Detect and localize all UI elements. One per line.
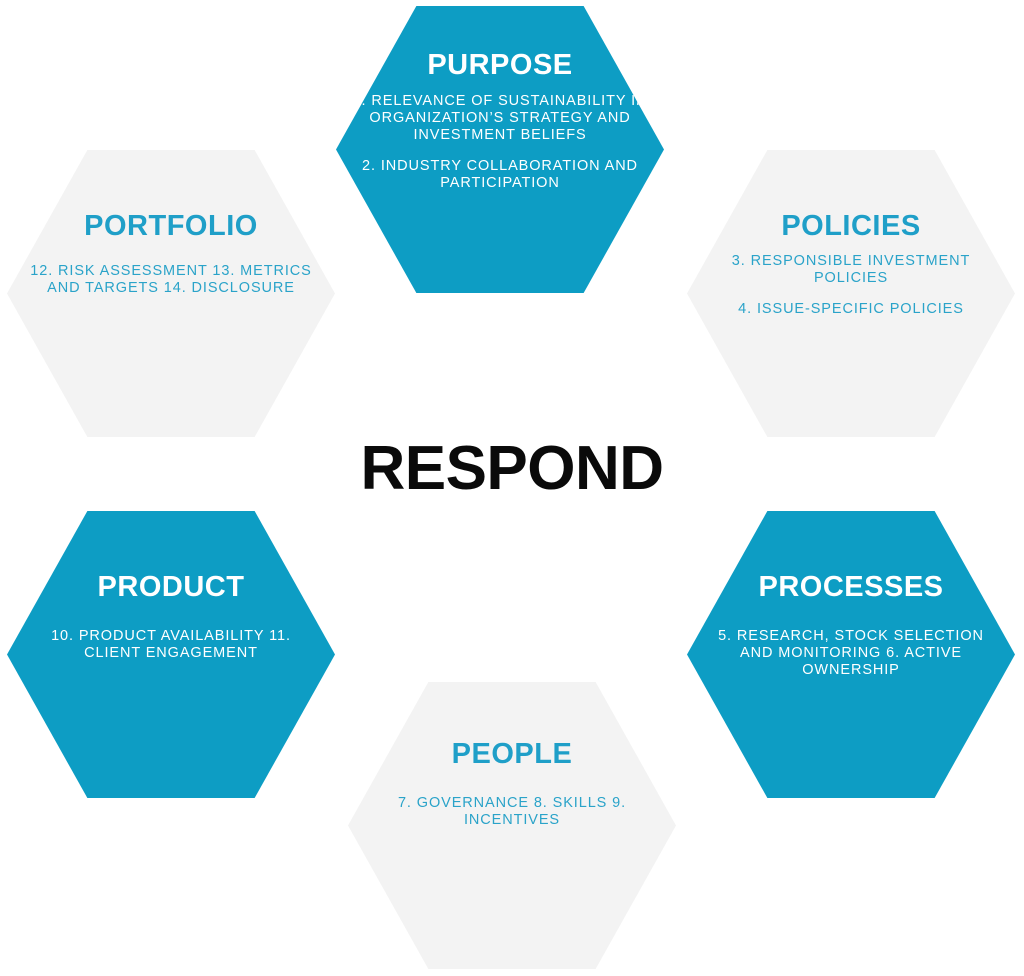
hexagon-people[interactable]: PEOPLE 7. GOVERNANCE 8. SKILLS 9. INCENT… [348, 682, 676, 969]
hexagon-policies-items: 3. RESPONSIBLE INVESTMENT POLICIES 4. IS… [701, 253, 1001, 318]
hexagon-portfolio[interactable]: PORTFOLIO 12. RISK ASSESSMENT 13. METRIC… [7, 150, 335, 437]
hexagon-people-items: 7. GOVERNANCE 8. SKILLS 9. INCENTIVES [362, 795, 662, 829]
hexagon-policies-item-1: 3. RESPONSIBLE INVESTMENT POLICIES [701, 253, 1001, 287]
hexagon-portfolio-item-1: 12. RISK ASSESSMENT 13. METRICS AND TARG… [21, 263, 321, 297]
hexagon-purpose[interactable]: PURPOSE 1. RELEVANCE OF SUSTAINABILITY I… [336, 6, 664, 293]
center-label: RESPOND [0, 438, 1024, 500]
hexagon-purpose-items: 1. RELEVANCE OF SUSTAINABILITY IN ORGANI… [350, 93, 650, 193]
hexagon-purpose-title: PURPOSE [427, 51, 572, 80]
hexagon-purpose-item-1: 1. RELEVANCE OF SUSTAINABILITY IN ORGANI… [350, 93, 650, 144]
hexagon-processes-items: 5. RESEARCH, STOCK SELECTION AND MONITOR… [701, 628, 1001, 679]
hexagon-policies-item-2: 4. ISSUE-SPECIFIC POLICIES [701, 301, 1001, 318]
hexagon-processes-item-1: 5. RESEARCH, STOCK SELECTION AND MONITOR… [701, 628, 1001, 679]
hexagon-processes[interactable]: PROCESSES 5. RESEARCH, STOCK SELECTION A… [687, 511, 1015, 798]
hexagon-product-items: 10. PRODUCT AVAILABILITY 11. CLIENT ENGA… [21, 628, 321, 662]
respond-hexagon-diagram: PURPOSE 1. RELEVANCE OF SUSTAINABILITY I… [0, 0, 1024, 976]
hexagon-processes-title: PROCESSES [759, 573, 944, 602]
hexagon-policies-title: POLICIES [781, 212, 920, 241]
hexagon-product-item-1: 10. PRODUCT AVAILABILITY 11. CLIENT ENGA… [21, 628, 321, 662]
hexagon-product-title: PRODUCT [98, 573, 245, 602]
hexagon-people-title: PEOPLE [452, 740, 573, 769]
hexagon-purpose-item-2: 2. INDUSTRY COLLABORATION AND PARTICIPAT… [350, 158, 650, 192]
hexagon-policies[interactable]: POLICIES 3. RESPONSIBLE INVESTMENT POLIC… [687, 150, 1015, 437]
hexagon-product[interactable]: PRODUCT 10. PRODUCT AVAILABILITY 11. CLI… [7, 511, 335, 798]
hexagon-portfolio-items: 12. RISK ASSESSMENT 13. METRICS AND TARG… [21, 263, 321, 297]
hexagon-portfolio-title: PORTFOLIO [84, 212, 258, 241]
hexagon-people-item-1: 7. GOVERNANCE 8. SKILLS 9. INCENTIVES [362, 795, 662, 829]
